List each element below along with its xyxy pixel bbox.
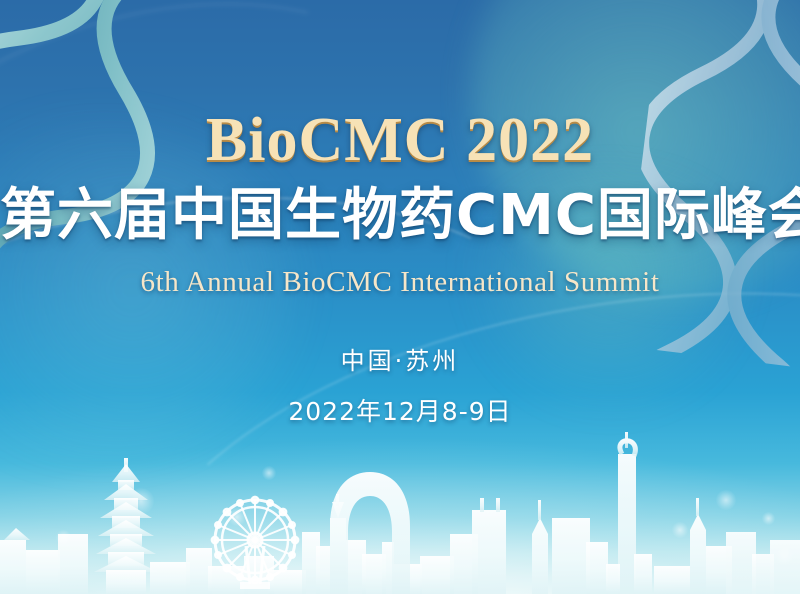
venue-location: 中国·苏州 — [0, 341, 800, 376]
ferris-wheel-icon — [212, 497, 299, 589]
bokeh-dot — [228, 508, 246, 526]
suzhou-city-skyline — [0, 414, 800, 594]
bokeh-dot — [716, 490, 736, 510]
conference-poster: BioCMC 2022 第六届中国生物药CMC国际峰会 6th Annual B… — [0, 0, 800, 594]
bokeh-dot — [762, 512, 775, 525]
gate-of-the-orient-icon — [330, 472, 410, 594]
event-dates: 2022年12月8-9日 — [0, 392, 800, 428]
title-chinese: 第六届中国生物药CMC国际峰会 — [0, 185, 800, 248]
subtitle-english: 6th Annual BioCMC International Summit — [0, 266, 800, 299]
poster-text-block: BioCMC 2022 第六届中国生物药CMC国际峰会 6th Annual B… — [0, 0, 800, 428]
bokeh-dot — [56, 530, 71, 545]
page-title: BioCMC 2022 — [0, 108, 800, 173]
bokeh-dot — [672, 522, 688, 538]
bokeh-dot — [128, 488, 154, 514]
bokeh-dot — [776, 548, 793, 565]
bokeh-dot — [262, 466, 276, 480]
